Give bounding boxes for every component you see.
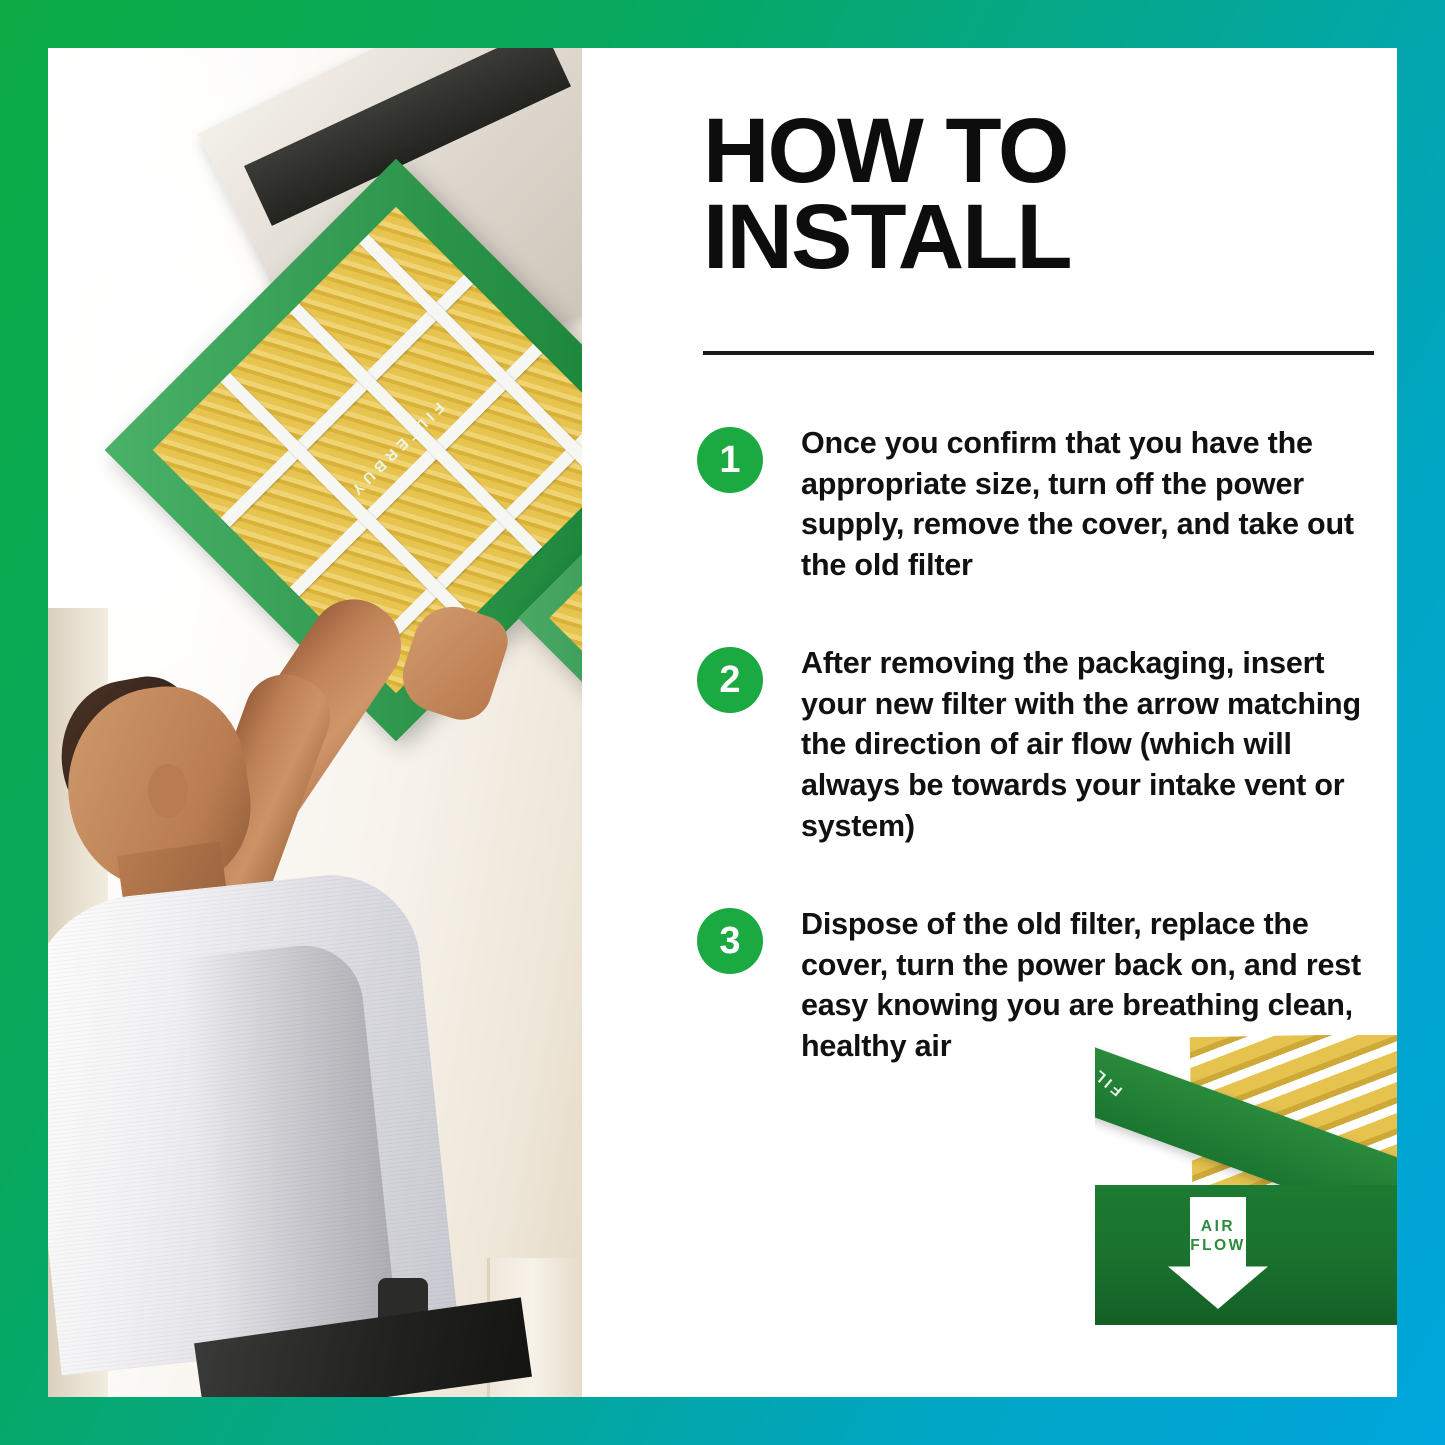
step-item-2: 2 After removing the packaging, insert y… <box>697 643 1387 846</box>
poster-canvas: FILTERBUY <box>48 48 1397 1397</box>
step-text-2: After removing the packaging, insert you… <box>801 643 1387 846</box>
air-flow-indicator: AIR FLOW <box>1168 1197 1268 1309</box>
product-brand-label: FILTERBUY <box>1095 1035 1126 1099</box>
air-flow-label-line-1: AIR <box>1168 1217 1268 1236</box>
step-text-1: Once you confirm that you have the appro… <box>801 423 1387 585</box>
step-number-badge-1: 1 <box>697 427 763 493</box>
step-item-1: 1 Once you confirm that you have the app… <box>697 423 1387 585</box>
product-filter-frame: AIR FLOW <box>1095 1185 1397 1325</box>
page-title-line-2: INSTALL <box>703 194 1383 280</box>
poster-root: FILTERBUY <box>0 0 1445 1445</box>
photo-person-ear <box>148 764 188 818</box>
step-number-badge-2: 2 <box>697 647 763 713</box>
steps-list: 1 Once you confirm that you have the app… <box>697 423 1387 1124</box>
title-divider <box>703 351 1374 355</box>
page-title: HOW TO INSTALL <box>703 108 1383 281</box>
product-photo: FILTERBUY AIR FLOW <box>1095 1035 1397 1325</box>
page-title-line-1: HOW TO <box>703 108 1383 194</box>
air-flow-label-line-2: FLOW <box>1168 1236 1268 1255</box>
install-photo: FILTERBUY <box>48 48 582 1397</box>
step-number-badge-3: 3 <box>697 908 763 974</box>
air-flow-label: AIR FLOW <box>1168 1217 1268 1256</box>
